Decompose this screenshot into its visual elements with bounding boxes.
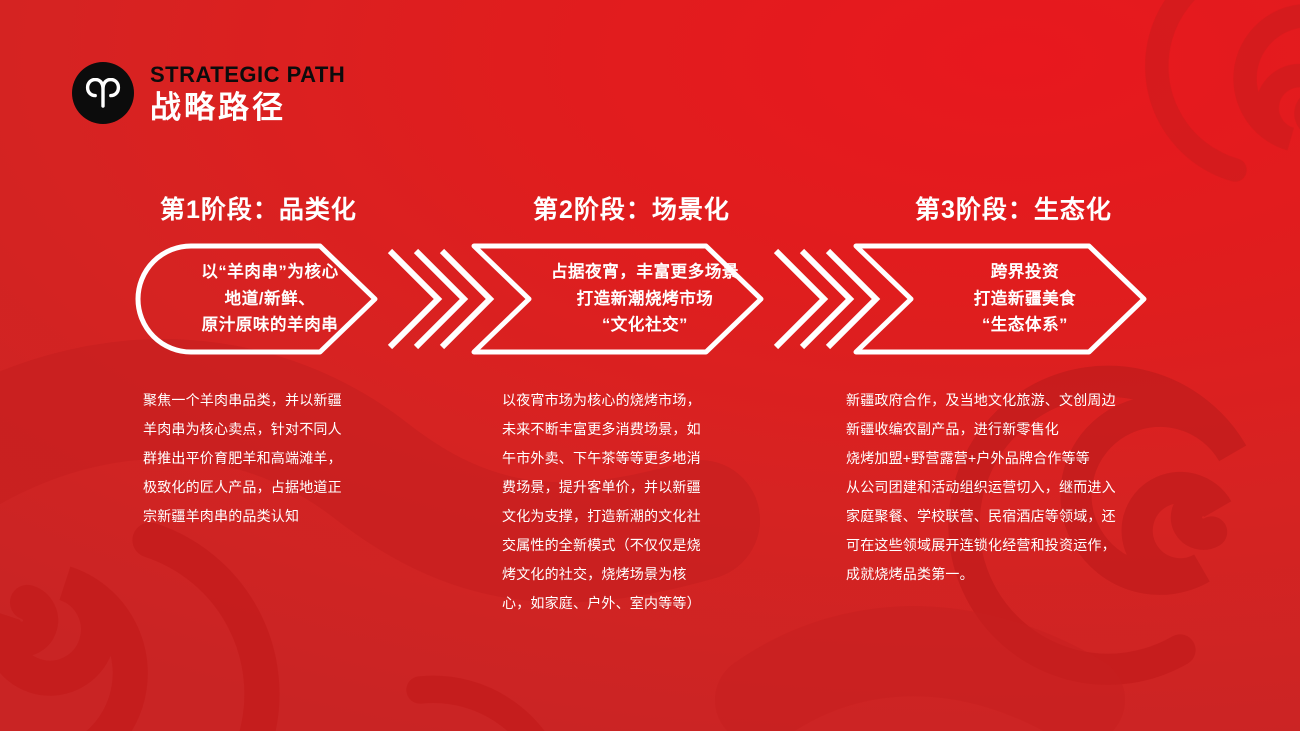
- aries-ram-symbol-icon: [72, 62, 134, 124]
- description-line: 从公司团建和活动组织运营切入，继而进入: [846, 473, 1176, 502]
- brand-lockup: STRATEGIC PATH 战略路径: [72, 62, 345, 124]
- brand-title-en: STRATEGIC PATH: [150, 64, 345, 86]
- arrow-label-line: 原汁原味的羊肉串: [202, 312, 339, 339]
- description-line: 宗新疆羊肉串的品类认知: [143, 502, 395, 531]
- description-line: 心，如家庭、户外、室内等等）: [502, 589, 750, 618]
- arrow-label-line: “文化社交”: [602, 312, 688, 339]
- description-line: 以夜宵市场为核心的烧烤市场，: [502, 386, 750, 415]
- chevron-separator-2-3: [776, 251, 876, 347]
- description-line: 羊肉串为核心卖点，针对不同人: [143, 415, 395, 444]
- description-line: 费场景，提升客单价，并以新疆: [502, 473, 750, 502]
- description-line: 未来不断丰富更多消费场景，如: [502, 415, 750, 444]
- slide-canvas: STRATEGIC PATH 战略路径 第1阶段：品类化 第2阶段：场景化 第3…: [0, 0, 1300, 731]
- arrow-label-line: 以“羊肉串”为核心: [201, 259, 338, 286]
- brand-title-cn: 战略路径: [150, 92, 345, 123]
- stage-3-description: 新疆政府合作，及当地文化旅游、文创周边 新疆收编农副产品，进行新零售化 烧烤加盟…: [846, 386, 1176, 589]
- chevron-separator-1-2: [390, 251, 490, 347]
- arrow-label-line: 打造新疆美食: [974, 286, 1077, 313]
- description-line: 极致化的匠人产品，占据地道正: [143, 473, 395, 502]
- description-line: 聚焦一个羊肉串品类，并以新疆: [143, 386, 395, 415]
- description-line: 新疆政府合作，及当地文化旅游、文创周边: [846, 386, 1176, 415]
- description-line: 文化为支撑，打造新潮的文化社: [502, 502, 750, 531]
- description-line: 烤文化的社交，烧烤场景为核: [502, 560, 750, 589]
- arrow-label-line: “生态体系”: [982, 312, 1068, 339]
- stage-2-heading: 第2阶段：场景化: [533, 190, 730, 226]
- stage-1-description: 聚焦一个羊肉串品类，并以新疆 羊肉串为核心卖点，针对不同人 群推出平价育肥羊和高…: [143, 386, 395, 531]
- arrow-label-line: 地道/新鲜、: [225, 286, 316, 313]
- arrow-label-line: 打造新潮烧烤市场: [577, 286, 714, 313]
- arrow-label-line: 占据夜宵，丰富更多场景: [551, 259, 739, 286]
- description-line: 群推出平价育肥羊和高端滩羊，: [143, 444, 395, 473]
- description-line: 成就烧烤品类第一。: [846, 560, 1176, 589]
- stage-3-heading: 第3阶段：生态化: [915, 190, 1112, 226]
- description-line: 可在这些领域展开连锁化经营和投资运作，: [846, 531, 1176, 560]
- description-line: 家庭聚餐、学校联营、民宿酒店等领域，还: [846, 502, 1176, 531]
- description-line: 交属性的全新模式（不仅仅是烧: [502, 531, 750, 560]
- stage-2-description: 以夜宵市场为核心的烧烤市场， 未来不断丰富更多消费场景，如 午市外卖、下午茶等等…: [502, 386, 750, 618]
- stage-2-arrow-label: 占据夜宵，丰富更多场景 打造新潮烧烤市场 “文化社交”: [500, 243, 790, 355]
- stage-3-arrow-label: 跨界投资 打造新疆美食 “生态体系”: [880, 243, 1170, 355]
- arrow-label-line: 跨界投资: [991, 259, 1059, 286]
- stage-1-arrow-label: 以“羊肉串”为核心 地道/新鲜、 原汁原味的羊肉串: [150, 243, 390, 355]
- stage-1-heading: 第1阶段：品类化: [160, 190, 357, 226]
- description-line: 午市外卖、下午茶等等更多地消: [502, 444, 750, 473]
- description-line: 烧烤加盟+野营露营+户外品牌合作等等: [846, 444, 1176, 473]
- description-line: 新疆收编农副产品，进行新零售化: [846, 415, 1176, 444]
